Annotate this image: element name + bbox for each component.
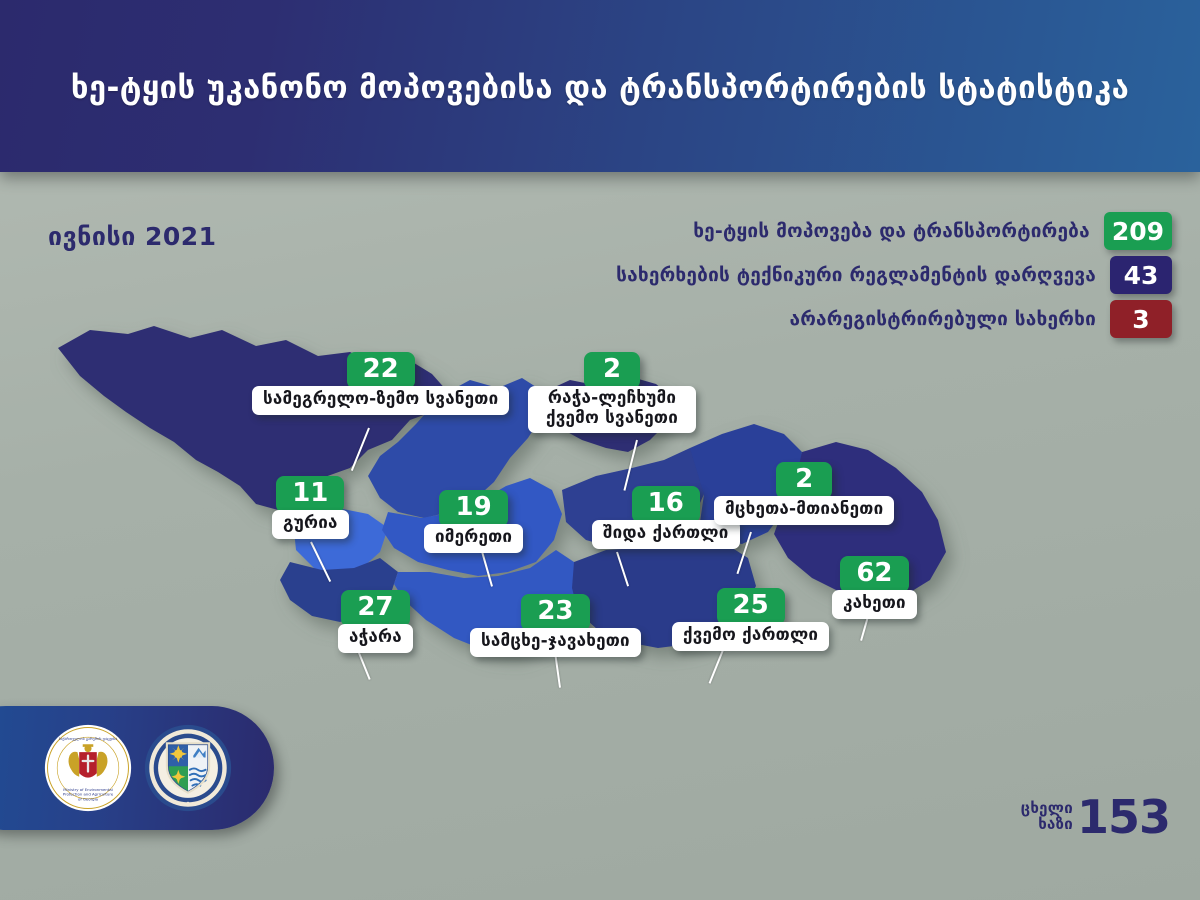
map-marker-mtskheta[interactable]: 2 მცხეთა-მთიანეთი — [714, 462, 894, 525]
hotline-number: 153 — [1077, 797, 1170, 838]
hotline-label-line2: ხაზი — [1021, 817, 1073, 833]
map-marker-imereti[interactable]: 19 იმერეთი — [424, 490, 523, 553]
page-title: ხე-ტყის უკანონო მოპოვებისა და ტრანსპორტი… — [0, 70, 1200, 106]
marker-count: 62 — [840, 556, 908, 593]
marker-label: მცხეთა-მთიანეთი — [714, 496, 894, 524]
infographic-page: ხე-ტყის უკანონო მოპოვებისა და ტრანსპორტი… — [0, 0, 1200, 900]
marker-count: 2 — [776, 462, 832, 499]
legend-label: ხე-ტყის მოპოვება და ტრანსპორტირება — [693, 220, 1090, 242]
legend-item-sawmill-regulation: სახერხების ტექნიკური რეგლამენტის დარღვევ… — [472, 256, 1172, 294]
legend-label: სახერხების ტექნიკური რეგლამენტის დარღვევ… — [616, 264, 1096, 286]
marker-label: აჭარა — [338, 624, 413, 652]
marker-label: ქვემო ქართლი — [672, 622, 829, 650]
marker-count: 25 — [717, 588, 785, 625]
footer-logo-panel: Ministry of Environmental Protection and… — [0, 706, 274, 830]
legend-badge: 209 — [1104, 212, 1172, 250]
marker-count: 27 — [341, 590, 409, 627]
svg-text:საქართველოს გარემოს დაცვისა: საქართველოს გარემოს დაცვისა — [59, 737, 118, 741]
legend-badge: 3 — [1110, 300, 1172, 338]
svg-text:of Georgia: of Georgia — [78, 797, 99, 802]
map-marker-kvemokartli[interactable]: 25 ქვემო ქართლი — [672, 588, 829, 651]
legend-badge: 43 — [1110, 256, 1172, 294]
marker-label: სამცხე-ჯავახეთი — [470, 628, 641, 656]
header-banner: ხე-ტყის უკანონო მოპოვებისა და ტრანსპორტი… — [0, 0, 1200, 172]
marker-count: 19 — [439, 490, 507, 527]
map-marker-guria[interactable]: 11 გურია — [272, 476, 349, 539]
marker-label: იმერეთი — [424, 524, 523, 552]
marker-label: რაჭა-ლეჩხუმი ქვემო სვანეთი — [528, 386, 696, 433]
map-marker-samtskhe[interactable]: 23 სამცხე-ჯავახეთი — [470, 594, 641, 657]
marker-count: 16 — [632, 486, 700, 523]
map-marker-kakheti[interactable]: 62 კახეთი — [832, 556, 917, 619]
marker-label: სამეგრელო-ზემო სვანეთი — [252, 386, 509, 414]
marker-count: 11 — [276, 476, 344, 513]
environmental-supervision-emblem-icon — [144, 724, 232, 812]
map-marker-adjara[interactable]: 27 აჭარა — [338, 590, 413, 653]
hotline-label: ცხელი ხაზი — [1021, 801, 1073, 833]
marker-label: გურია — [272, 510, 349, 538]
ministry-of-environment-emblem-icon: Ministry of Environmental Protection and… — [44, 724, 132, 812]
marker-count: 2 — [584, 352, 640, 389]
hotline: ცხელი ხაზი 153 — [1021, 797, 1170, 838]
marker-label: კახეთი — [832, 590, 917, 618]
marker-count: 23 — [521, 594, 589, 631]
date-label: ივნისი 2021 — [48, 222, 217, 251]
map-marker-samegrelo[interactable]: 22 სამეგრელო-ზემო სვანეთი — [252, 352, 509, 415]
marker-count: 22 — [347, 352, 415, 389]
map-marker-racha[interactable]: 2 რაჭა-ლეჩხუმი ქვემო სვანეთი — [528, 352, 696, 433]
legend-item-violation-logging: ხე-ტყის მოპოვება და ტრანსპორტირება 209 — [472, 212, 1172, 250]
